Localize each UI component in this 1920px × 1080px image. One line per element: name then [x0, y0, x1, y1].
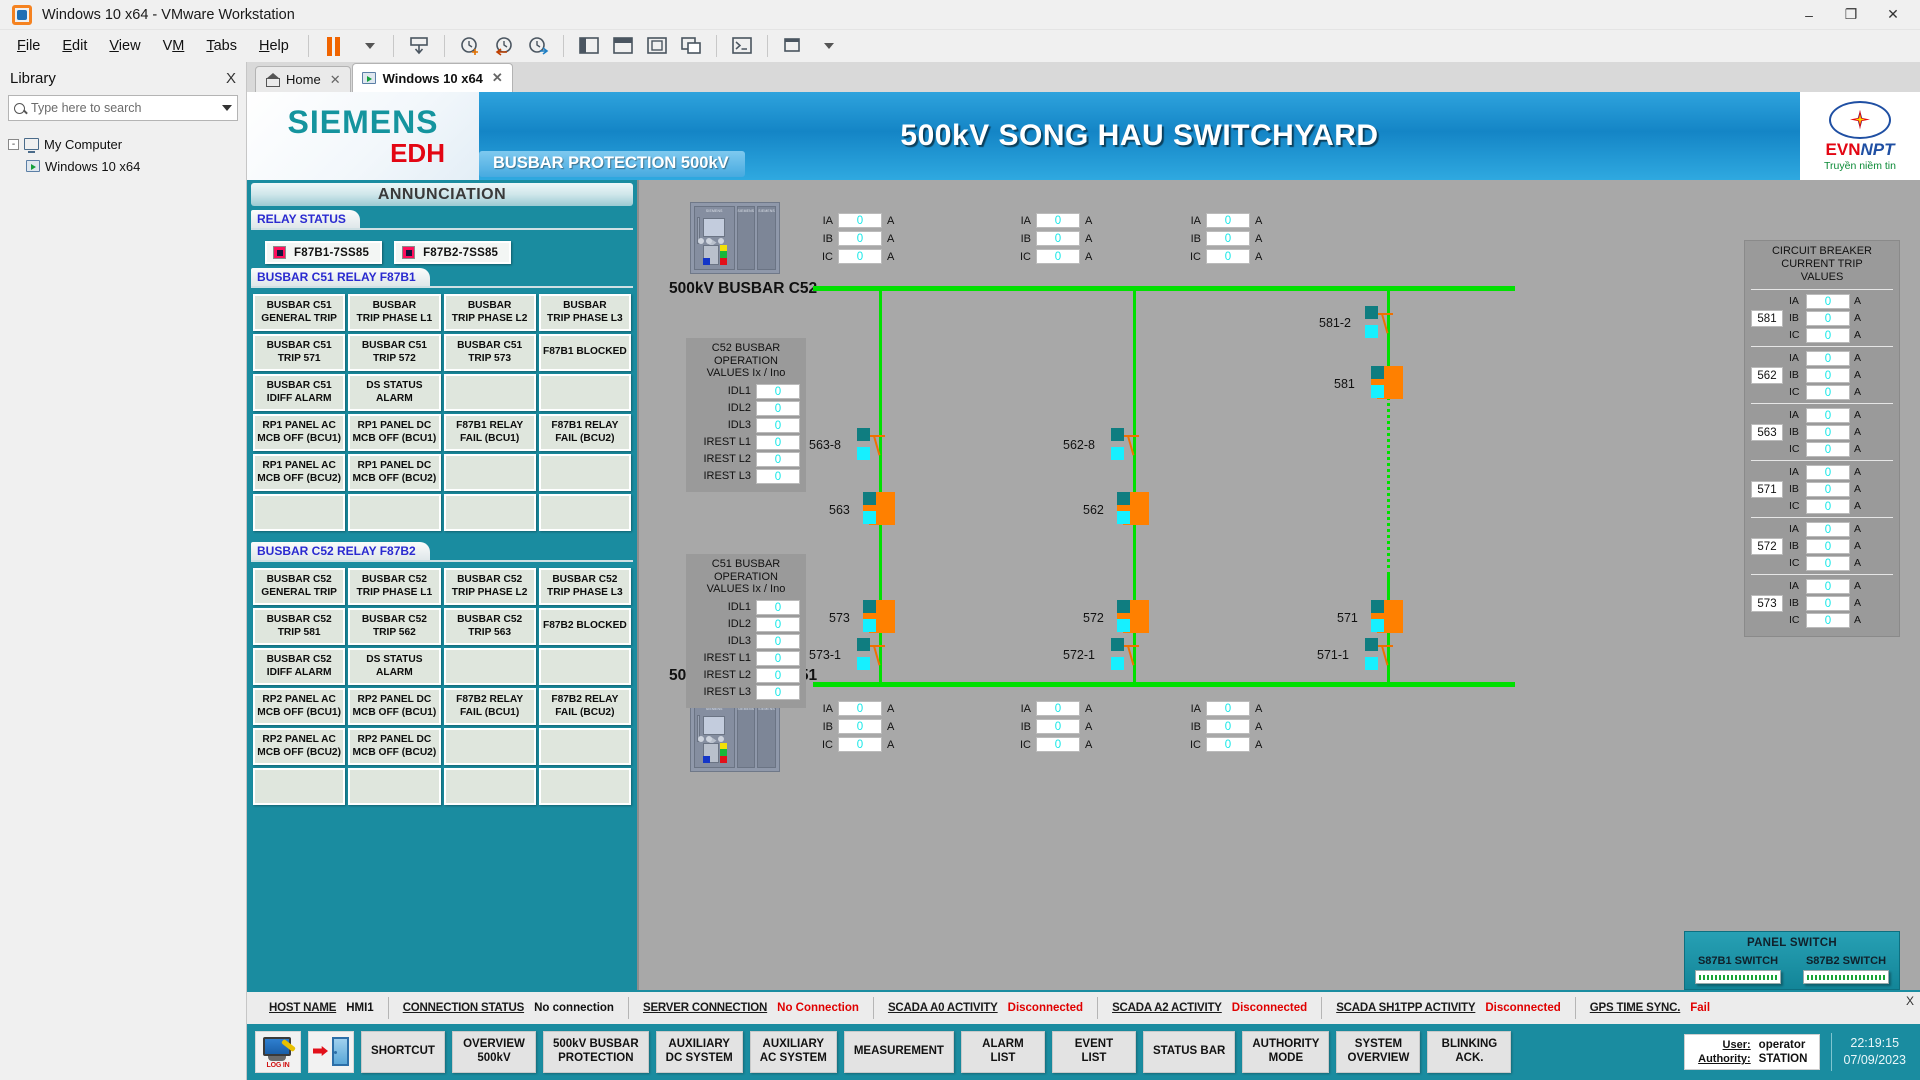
- operation-value-label: IREST L2: [704, 453, 752, 465]
- measurement-block-c51-bay1: IA0AIB0AIC0A: [819, 701, 894, 755]
- tree-item-windows-10[interactable]: Windows 10 x64: [8, 155, 246, 177]
- bay-label-563-8: 563-8: [809, 438, 841, 452]
- measurement-row: IC0A: [819, 249, 894, 264]
- siemens-wordmark: SIEMENS: [287, 106, 438, 138]
- clock-time: 22:19:15: [1843, 1035, 1906, 1052]
- status-item: SERVER CONNECTIONNo Connection: [629, 992, 873, 1024]
- exit-button[interactable]: [308, 1031, 354, 1073]
- annunciation-title: ANNUNCIATION: [251, 183, 633, 206]
- alarm-tile[interactable]: BUSBAR C52GENERAL TRIP: [253, 568, 345, 605]
- snapshot-manager-icon[interactable]: [521, 33, 555, 59]
- disconnector-blade-icon: [870, 640, 884, 666]
- breaker-status-closed-icon: [1371, 600, 1384, 613]
- status-item-value: No Connection: [777, 1002, 859, 1014]
- phase-label: IB: [1789, 312, 1802, 324]
- unit-label: A: [1085, 215, 1092, 227]
- vm-guest-screen[interactable]: SIEMENS EDH 500kV SONG HAU SWITCHYARD BU…: [247, 92, 1920, 1080]
- disconnector-status-closed-icon: [1111, 638, 1124, 651]
- operation-value-row: IREST L20: [692, 452, 800, 467]
- relay-led-icon: [273, 246, 286, 259]
- alarm-tile[interactable]: RP1 PANEL DCMCB OFF (BCU1): [348, 414, 440, 451]
- home-icon: [265, 74, 279, 86]
- circuit-breaker-572[interactable]: [1117, 600, 1163, 634]
- status-item-value: No connection: [534, 1002, 614, 1014]
- scada-toolbar: LOG IN SHORTCUTOVERVIEW500kV500kV BUSBAR…: [247, 1024, 1920, 1080]
- alarm-tile-empty[interactable]: [539, 648, 631, 685]
- phase-label: IB: [1789, 540, 1802, 552]
- cb-trip-value: 0: [1806, 613, 1850, 628]
- user-info-box[interactable]: User:operator Authority:STATION: [1684, 1034, 1821, 1070]
- circuit-breaker-571[interactable]: [1371, 600, 1417, 634]
- measurement-value: 0: [1036, 231, 1080, 246]
- toolbar-button[interactable]: ALARMLIST: [961, 1031, 1045, 1073]
- vm-tabstrip: Home ✕ Windows 10 x64 ✕: [247, 62, 1920, 92]
- alarm-tile[interactable]: RP2 PANEL ACMCB OFF (BCU2): [253, 728, 345, 765]
- measurement-row: IC0A: [1187, 737, 1262, 752]
- cb-trip-value: 0: [1806, 522, 1850, 537]
- unit-label: A: [887, 739, 894, 751]
- measurement-row: IB0A: [1187, 231, 1262, 246]
- status-item-value: Disconnected: [1485, 1002, 1560, 1014]
- alarm-tile[interactable]: RP1 PANEL DCMCB OFF (BCU2): [348, 454, 440, 491]
- operation-value-row: IREST L30: [692, 469, 800, 484]
- disconnector-status-closed-icon: [1111, 428, 1124, 441]
- siemens-logo: SIEMENS EDH: [247, 92, 479, 180]
- alarm-tile-empty[interactable]: [444, 648, 536, 685]
- toolbar-button[interactable]: BLINKINGACK.: [1427, 1031, 1511, 1073]
- toolbar-divider-4: [563, 35, 564, 57]
- maximize-button[interactable]: ❐: [1830, 1, 1872, 29]
- unit-label: A: [1854, 386, 1861, 398]
- evn-tagline: Truyền niềm tin: [1824, 160, 1896, 172]
- disconnector-blade-icon: [1378, 640, 1392, 666]
- c52-group-header: BUSBAR C52 RELAY F87B2: [251, 542, 633, 567]
- cb-trip-group: 563IA0AIB0AIC0A: [1751, 403, 1893, 460]
- alarm-tile[interactable]: F87B2 RELAYFAIL (BCU1): [444, 688, 536, 725]
- operation-value-label: IREST L2: [704, 669, 752, 681]
- phase-label: IA: [1789, 523, 1802, 535]
- circuit-breaker-trip-values-panel: CIRCUIT BREAKERCURRENT TRIPVALUES 581IA0…: [1744, 240, 1900, 637]
- search-icon: [14, 103, 25, 114]
- disconnector-562-8: [1111, 428, 1157, 462]
- alarm-tile-empty[interactable]: [348, 768, 440, 805]
- toolbar-divider: [1831, 1033, 1832, 1071]
- tab-close-icon[interactable]: ✕: [492, 70, 503, 86]
- login-button[interactable]: LOG IN: [255, 1031, 301, 1073]
- unit-label: A: [1854, 483, 1861, 495]
- unit-label: A: [1854, 500, 1861, 512]
- bay-label-581-2: 581-2: [1319, 316, 1351, 330]
- alarm-tile[interactable]: BUSBARTRIP PHASE L1: [348, 294, 440, 331]
- breaker-status-closed-icon: [1117, 600, 1130, 613]
- alarm-tile-empty[interactable]: [539, 494, 631, 531]
- alarm-tile-empty[interactable]: [444, 374, 536, 411]
- alarm-tile[interactable]: BUSBAR C52TRIP 581: [253, 608, 345, 645]
- unity-mode-icon[interactable]: [674, 33, 708, 59]
- alarm-tile[interactable]: BUSBAR C51IDIFF ALARM: [253, 374, 345, 411]
- phase-label: IC: [819, 251, 833, 263]
- measurement-value: 0: [1206, 231, 1250, 246]
- alarm-tile[interactable]: RP2 PANEL DCMCB OFF (BCU1): [348, 688, 440, 725]
- breaker-status-open-icon: [1371, 385, 1384, 398]
- measurement-row: IB0A: [819, 231, 894, 246]
- toolbar-button[interactable]: 500kV BUSBARPROTECTION: [543, 1031, 649, 1073]
- disconnector-status-open-icon: [1111, 657, 1124, 670]
- toolbar-button[interactable]: SHORTCUT: [361, 1031, 445, 1073]
- revert-snapshot-icon[interactable]: [487, 33, 521, 59]
- toolbar-divider-6: [767, 35, 768, 57]
- alarm-tile[interactable]: F87B2 RELAYFAIL (BCU2): [539, 688, 631, 725]
- alarm-tile-empty[interactable]: [253, 494, 345, 531]
- disconnector-blade-icon: [1124, 430, 1138, 456]
- status-item: HOST NAMEHMI1: [255, 992, 388, 1024]
- authority-value: STATION: [1759, 1053, 1808, 1065]
- alarm-tile[interactable]: F87B1 RELAYFAIL (BCU1): [444, 414, 536, 451]
- disconnector-573-1: [857, 638, 903, 672]
- alarm-tile[interactable]: BUSBAR C51TRIP 572: [348, 334, 440, 371]
- annunciation-panel: ANNUNCIATION RELAY STATUS F87B1-7SS85: [247, 180, 639, 990]
- toolbar-button[interactable]: AUXILIARYAC SYSTEM: [750, 1031, 837, 1073]
- alarm-tile-empty[interactable]: [539, 454, 631, 491]
- pause-dropdown-icon[interactable]: [351, 33, 385, 59]
- phase-label: IA: [1017, 215, 1031, 227]
- unit-label: A: [1854, 614, 1861, 626]
- measurement-row: IB0A: [819, 719, 894, 734]
- vmware-logo-icon: [12, 5, 32, 25]
- unit-label: A: [1854, 409, 1861, 421]
- cb-trip-row: IA0A: [1789, 351, 1861, 366]
- measurement-value: 0: [838, 249, 882, 264]
- cb-trip-value: 0: [1806, 328, 1850, 343]
- operation-value-label: IREST L3: [704, 686, 752, 698]
- unit-label: A: [1085, 721, 1092, 733]
- breaker-status-closed-icon: [1117, 492, 1130, 505]
- measurement-row: IA0A: [1187, 701, 1262, 716]
- toolbar-button[interactable]: AUXILIARYDC SYSTEM: [656, 1031, 743, 1073]
- alarm-tile[interactable]: BUSBAR C52TRIP 563: [444, 608, 536, 645]
- operation-value-label: IDL3: [728, 419, 751, 431]
- measurement-block-c52-bay2: IA0AIB0AIC0A: [1017, 213, 1092, 267]
- bay-label-573-1: 573-1: [809, 648, 841, 662]
- alarm-tile-empty[interactable]: [539, 728, 631, 765]
- alarm-tile[interactable]: BUSBAR C52IDIFF ALARM: [253, 648, 345, 685]
- circuit-breaker-581[interactable]: [1371, 366, 1417, 400]
- measurement-value: 0: [1036, 719, 1080, 734]
- cb-trip-group: 562IA0AIB0AIC0A: [1751, 346, 1893, 403]
- unit-label: A: [1085, 251, 1092, 263]
- cb-trip-value: 0: [1806, 579, 1850, 594]
- scada-status-bar: HOST NAMEHMI1CONNECTION STATUSNo connect…: [247, 990, 1920, 1024]
- alarm-tile[interactable]: RP2 PANEL ACMCB OFF (BCU1): [253, 688, 345, 725]
- unit-label: A: [887, 251, 894, 263]
- alarm-tile[interactable]: RP2 PANEL DCMCB OFF (BCU2): [348, 728, 440, 765]
- alarm-tile[interactable]: F87B1 BLOCKED: [539, 334, 631, 371]
- operation-value-label: IDL2: [728, 618, 751, 630]
- panel-switch-label: S87B1 SWITCH: [1695, 955, 1781, 967]
- panel-switch-label: S87B2 SWITCH: [1803, 955, 1889, 967]
- measurement-row: IA0A: [1187, 213, 1262, 228]
- breaker-status-open-icon: [863, 619, 876, 632]
- cb-trip-row: IC0A: [1789, 499, 1861, 514]
- relay-status-group: RELAY STATUS: [251, 210, 633, 235]
- alarm-tile-empty[interactable]: [539, 374, 631, 411]
- library-search-input[interactable]: Type here to search: [8, 95, 238, 121]
- phase-label: IA: [819, 703, 833, 715]
- measurement-value: 0: [838, 213, 882, 228]
- toolbar-button[interactable]: AUTHORITYMODE: [1242, 1031, 1329, 1073]
- alarm-tile[interactable]: BUSBAR C52TRIP PHASE L2: [444, 568, 536, 605]
- evn-npt-logo: EVNNPT Truyền niềm tin: [1800, 92, 1920, 180]
- measurement-value: 0: [838, 701, 882, 716]
- status-item: GPS TIME SYNC.Fail: [1576, 992, 1724, 1024]
- alarm-tile[interactable]: BUSBARTRIP PHASE L2: [444, 294, 536, 331]
- alarm-tile[interactable]: F87B1 RELAYFAIL (BCU2): [539, 414, 631, 451]
- take-snapshot-icon[interactable]: [453, 33, 487, 59]
- measurement-value: 0: [1036, 701, 1080, 716]
- manage-icon[interactable]: [776, 33, 810, 59]
- phase-label: IC: [1789, 386, 1802, 398]
- alarm-tile[interactable]: BUSBAR C52TRIP PHASE L1: [348, 568, 440, 605]
- operation-value-field: 0: [756, 469, 800, 484]
- measurement-value: 0: [838, 231, 882, 246]
- c52-operation-values-panel: C52 BUSBAR OPERATIONVALUES Ix / Ino IDL1…: [686, 338, 806, 492]
- alarm-tile-empty[interactable]: [444, 768, 536, 805]
- cb-trip-value: 0: [1806, 596, 1850, 611]
- phase-label: IB: [819, 233, 833, 245]
- phase-label: IA: [1789, 466, 1802, 478]
- alarm-tile-empty[interactable]: [348, 494, 440, 531]
- library-close-icon[interactable]: X: [226, 70, 236, 87]
- alarm-tile[interactable]: BUSBAR C51TRIP 571: [253, 334, 345, 371]
- measurement-row: IB0A: [1017, 719, 1092, 734]
- relay-button-label: F87B1-7SS85: [294, 247, 369, 259]
- panel-switch-indicator: [1695, 970, 1781, 984]
- phase-label: IC: [1187, 739, 1201, 751]
- unit-label: A: [1854, 369, 1861, 381]
- relay-button-f87b1[interactable]: F87B1-7SS85: [265, 241, 382, 264]
- status-item-value: Disconnected: [1232, 1002, 1307, 1014]
- toolbar-button[interactable]: STATUS BAR: [1143, 1031, 1235, 1073]
- cb-trip-row: IB0A: [1789, 539, 1861, 554]
- toolbar-button[interactable]: OVERVIEW500kV: [452, 1031, 536, 1073]
- measurement-block-c52-bay3: IA0AIB0AIC0A: [1187, 213, 1262, 267]
- unit-label: A: [1255, 721, 1262, 733]
- alarm-tile[interactable]: F87B2 BLOCKED: [539, 608, 631, 645]
- operation-value-row: IREST L10: [692, 651, 800, 666]
- measurement-row: IA0A: [819, 213, 894, 228]
- evn-text: EVN: [1826, 140, 1861, 159]
- expander-icon[interactable]: -: [8, 139, 19, 150]
- show-library-icon[interactable]: [572, 33, 606, 59]
- tab-windows-10-x64[interactable]: Windows 10 x64 ✕: [352, 63, 513, 92]
- disconnector-581-2: [1365, 306, 1411, 340]
- bay-label-562: 562: [1083, 503, 1104, 517]
- status-bar-close-icon[interactable]: X: [1906, 994, 1914, 1008]
- breaker-status-open-icon: [1117, 511, 1130, 524]
- phase-label: IA: [1789, 295, 1802, 307]
- cb-trip-row: IA0A: [1789, 465, 1861, 480]
- library-header: Library X: [0, 62, 246, 93]
- menu-edit[interactable]: Edit: [51, 34, 98, 58]
- tab-label: Windows 10 x64: [383, 71, 483, 86]
- cb-trip-value: 0: [1806, 465, 1850, 480]
- snapshot-icon[interactable]: [402, 33, 436, 59]
- disconnector-status-closed-icon: [857, 638, 870, 651]
- alarm-tile-empty[interactable]: [444, 728, 536, 765]
- single-line-diagram: SIEMENS SIEMENS SIEMENS 500kV BUSBAR C52: [639, 180, 1920, 990]
- menu-view[interactable]: View: [98, 34, 151, 58]
- unit-label: A: [887, 215, 894, 227]
- disconnector-blade-icon: [1124, 640, 1138, 666]
- breaker-status-open-icon: [1117, 619, 1130, 632]
- show-thumbnails-icon[interactable]: [606, 33, 640, 59]
- circuit-breaker-573[interactable]: [863, 600, 909, 634]
- toolbar-divider-5: [716, 35, 717, 57]
- relay-status-buttons: F87B1-7SS85 F87B2-7SS85: [251, 235, 633, 268]
- cb-trip-row: IB0A: [1789, 482, 1861, 497]
- menu-tabs[interactable]: Tabs: [195, 34, 248, 58]
- operation-value-label: IDL2: [728, 402, 751, 414]
- unit-label: A: [1854, 352, 1861, 364]
- operation-value-field: 0: [756, 401, 800, 416]
- panel-switch-title: PANEL SWITCH: [1695, 937, 1889, 949]
- measurement-value: 0: [838, 719, 882, 734]
- login-icon-label: LOG IN: [261, 1062, 295, 1069]
- c52-alarm-grid: BUSBAR C52GENERAL TRIPBUSBAR C52TRIP PHA…: [251, 567, 633, 806]
- menu-help[interactable]: Help: [248, 34, 300, 58]
- scada-application: SIEMENS EDH 500kV SONG HAU SWITCHYARD BU…: [247, 92, 1920, 1080]
- alarm-tile-empty[interactable]: [539, 768, 631, 805]
- toolbar-button[interactable]: EVENTLIST: [1052, 1031, 1136, 1073]
- disconnector-status-closed-icon: [857, 428, 870, 441]
- alarm-tile[interactable]: BUSBAR C52TRIP PHASE L3: [539, 568, 631, 605]
- panel-switch-item[interactable]: S87B1 SWITCH: [1695, 955, 1781, 984]
- phase-label: IC: [1789, 329, 1802, 341]
- tab-home[interactable]: Home ✕: [255, 66, 351, 92]
- cb-trip-value: 0: [1806, 556, 1850, 571]
- vmware-titlebar: Windows 10 x64 - VMware Workstation – ❐ …: [0, 0, 1920, 30]
- relay-status-label: RELAY STATUS: [251, 210, 360, 228]
- measurement-value: 0: [838, 737, 882, 752]
- unit-label: A: [1854, 557, 1861, 569]
- relay-button-f87b2[interactable]: F87B2-7SS85: [394, 241, 511, 264]
- cb-trip-row: IA0A: [1789, 408, 1861, 423]
- tree-item-label: Windows 10 x64: [45, 159, 140, 174]
- measurement-block-c51-bay3: IA0AIB0AIC0A: [1187, 701, 1262, 755]
- alarm-tile[interactable]: BUSBAR C51GENERAL TRIP: [253, 294, 345, 331]
- unit-label: A: [1255, 703, 1262, 715]
- minimize-button[interactable]: –: [1788, 1, 1830, 29]
- panel-switch-indicator: [1803, 970, 1889, 984]
- toolbar-button[interactable]: MEASUREMENT: [844, 1031, 954, 1073]
- measurement-value: 0: [1206, 737, 1250, 752]
- disconnector-status-closed-icon: [1365, 306, 1378, 319]
- menu-vm[interactable]: VM: [152, 34, 196, 58]
- manage-dropdown-icon[interactable]: [810, 33, 844, 59]
- phase-label: IB: [1187, 233, 1201, 245]
- cb-trip-row: IA0A: [1789, 294, 1861, 309]
- phase-label: IA: [1789, 352, 1802, 364]
- alarm-tile[interactable]: RP1 PANEL ACMCB OFF (BCU1): [253, 414, 345, 451]
- cb-trip-group: 573IA0AIB0AIC0A: [1751, 574, 1893, 631]
- page-subtitle: BUSBAR PROTECTION 500kV: [479, 151, 745, 177]
- tree-item-my-computer[interactable]: - My Computer: [8, 133, 246, 155]
- alarm-tile-empty[interactable]: [253, 768, 345, 805]
- unit-label: A: [887, 703, 894, 715]
- unit-label: A: [1854, 329, 1861, 341]
- library-sidebar: Library X Type here to search - My Compu…: [0, 62, 247, 1080]
- cb-trip-row: IB0A: [1789, 596, 1861, 611]
- bay-label-571-1: 571-1: [1317, 648, 1349, 662]
- operation-value-row: IDL30: [692, 418, 800, 433]
- cb-trip-bay-number: 571: [1751, 481, 1783, 498]
- disconnector-status-open-icon: [1111, 447, 1124, 460]
- bay-label-562-8: 562-8: [1063, 438, 1095, 452]
- circuit-breaker-562[interactable]: [1117, 492, 1163, 526]
- panel-switch-item[interactable]: S87B2 SWITCH: [1803, 955, 1889, 984]
- relay-device-c52-icon: SIEMENS SIEMENS SIEMENS: [690, 202, 780, 274]
- measurement-value: 0: [1206, 213, 1250, 228]
- console-icon[interactable]: [725, 33, 759, 59]
- disconnector-563-8: [857, 428, 903, 462]
- phase-label: IB: [1789, 483, 1802, 495]
- close-button[interactable]: ✕: [1872, 1, 1914, 29]
- clock-date: 07/09/2023: [1843, 1052, 1906, 1069]
- cb-trip-value: 0: [1806, 425, 1850, 440]
- unit-label: A: [1854, 466, 1861, 478]
- pause-button[interactable]: [317, 33, 351, 59]
- alarm-tile-empty[interactable]: [444, 454, 536, 491]
- alarm-tile[interactable]: BUSBAR C51TRIP 573: [444, 334, 536, 371]
- unit-label: A: [887, 233, 894, 245]
- status-item-label: GPS TIME SYNC.: [1590, 1002, 1681, 1014]
- circuit-breaker-563[interactable]: [863, 492, 909, 526]
- feeder-line-581-tie: [1387, 396, 1390, 576]
- status-item: CONNECTION STATUSNo connection: [389, 992, 628, 1024]
- toolbar-button[interactable]: SYSTEMOVERVIEW: [1336, 1031, 1420, 1073]
- alarm-tile[interactable]: RP1 PANEL ACMCB OFF (BCU2): [253, 454, 345, 491]
- alarm-tile[interactable]: DS STATUSALARM: [348, 648, 440, 685]
- disconnector-status-open-icon: [857, 657, 870, 670]
- c52-group-label: BUSBAR C52 RELAY F87B2: [251, 542, 430, 560]
- operation-value-field: 0: [756, 452, 800, 467]
- operation-value-row: IDL20: [692, 617, 800, 632]
- cb-trip-bay-number: 581: [1751, 310, 1783, 327]
- cb-trip-value: 0: [1806, 539, 1850, 554]
- phase-label: IB: [1017, 721, 1031, 733]
- operation-value-row: IDL10: [692, 384, 800, 399]
- alarm-tile-empty[interactable]: [444, 494, 536, 531]
- cb-trip-bay-number: 573: [1751, 595, 1783, 612]
- search-placeholder: Type here to search: [31, 101, 141, 115]
- menu-file[interactable]: File: [6, 34, 51, 58]
- measurement-row: IA0A: [1017, 213, 1092, 228]
- alarm-tile[interactable]: DS STATUSALARM: [348, 374, 440, 411]
- c51-alarm-grid: BUSBAR C51GENERAL TRIPBUSBARTRIP PHASE L…: [251, 293, 633, 532]
- measurement-value: 0: [1206, 719, 1250, 734]
- status-item: SCADA A2 ACTIVITYDisconnected: [1098, 992, 1321, 1024]
- measurement-block-c51-bay2: IA0AIB0AIC0A: [1017, 701, 1092, 755]
- search-dropdown-icon[interactable]: [222, 105, 232, 111]
- alarm-tile[interactable]: BUSBAR C52TRIP 562: [348, 608, 440, 645]
- unit-label: A: [1854, 580, 1861, 592]
- panel-switch-box: PANEL SWITCH S87B1 SWITCHS87B2 SWITCH: [1684, 931, 1900, 990]
- unit-label: A: [1854, 443, 1861, 455]
- alarm-tile[interactable]: BUSBARTRIP PHASE L3: [539, 294, 631, 331]
- tab-close-icon[interactable]: ✕: [330, 72, 341, 88]
- login-icon: LOG IN: [261, 1037, 295, 1067]
- fullscreen-icon[interactable]: [640, 33, 674, 59]
